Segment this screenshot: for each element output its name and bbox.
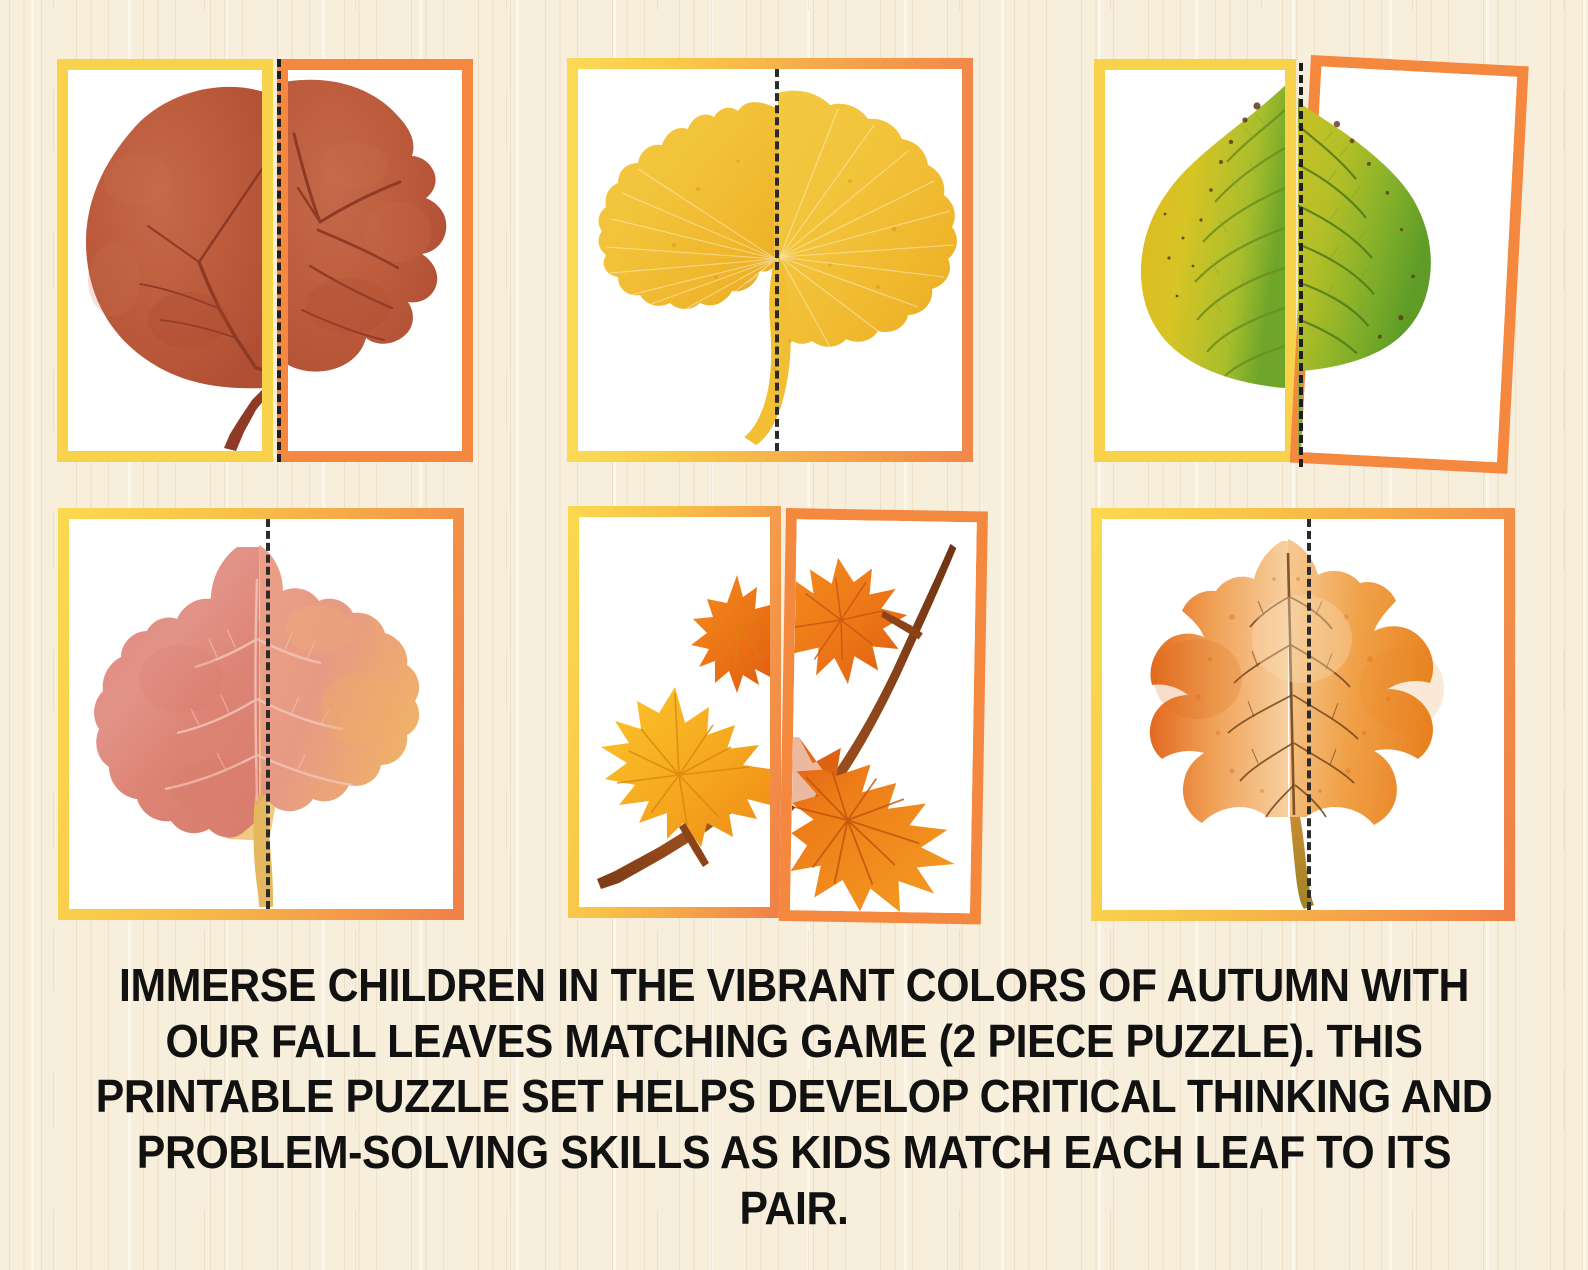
puzzle-1-left-artwork bbox=[68, 70, 262, 451]
puzzle-3-left-artwork bbox=[1105, 70, 1285, 451]
puzzle-3-cut-line bbox=[1299, 63, 1303, 467]
puzzle-1-cut-line bbox=[277, 59, 281, 462]
orange-watercolor-oak-leaf bbox=[1102, 519, 1504, 910]
maple-branch-right-half bbox=[790, 519, 977, 913]
puzzle-3-right-leaf-layer bbox=[1298, 64, 1498, 456]
puzzle-1-left-card[interactable] bbox=[57, 59, 273, 462]
puzzle-6-cut-line bbox=[1307, 519, 1311, 910]
maple-branch-left-half bbox=[579, 517, 770, 907]
puzzle-6-artwork bbox=[1102, 519, 1504, 910]
birch-leaf-left-half bbox=[1105, 70, 1285, 451]
puzzle-4-artwork bbox=[69, 519, 453, 909]
puzzle-2-card[interactable] bbox=[567, 58, 973, 462]
pink-watercolor-oak-leaf bbox=[69, 519, 453, 909]
ginkgo-leaf bbox=[578, 69, 962, 451]
puzzle-5-right-artwork bbox=[790, 519, 977, 913]
puzzle-5-left-card[interactable] bbox=[568, 506, 781, 918]
puzzle-3-left-card[interactable] bbox=[1094, 59, 1296, 462]
round-brown-leaf-right-half bbox=[288, 70, 462, 451]
puzzle-4-card[interactable] bbox=[58, 508, 464, 920]
poster-canvas: IMMERSE CHILDREN IN THE VIBRANT COLORS O… bbox=[0, 0, 1588, 1270]
puzzle-1-right-artwork bbox=[288, 70, 462, 451]
puzzle-5-right-card[interactable] bbox=[779, 508, 988, 924]
caption-text: IMMERSE CHILDREN IN THE VIBRANT COLORS O… bbox=[93, 958, 1495, 1236]
puzzle-2-artwork bbox=[578, 69, 962, 451]
puzzle-6-card[interactable] bbox=[1091, 508, 1515, 921]
puzzle-4-cut-line bbox=[266, 519, 270, 909]
puzzle-5-left-artwork bbox=[579, 517, 770, 907]
round-brown-leaf-left-half bbox=[68, 70, 262, 451]
puzzle-1-right-card[interactable] bbox=[277, 59, 473, 462]
puzzle-2-cut-line bbox=[775, 69, 779, 451]
